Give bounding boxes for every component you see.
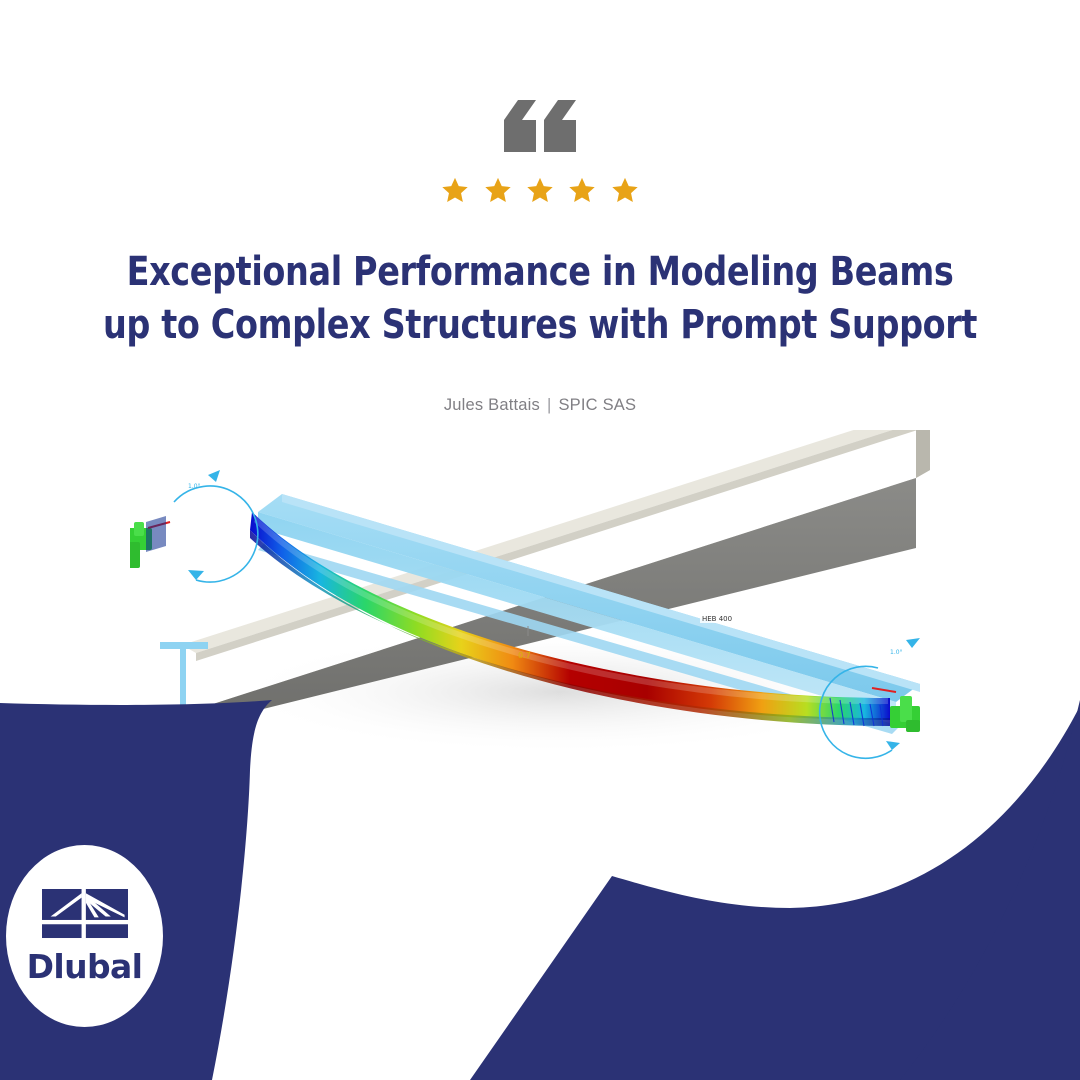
headline-line-1: Exceptional Performance in Modeling Beam… (75, 246, 1005, 299)
left-support-assembly: 1.0° (130, 470, 258, 582)
bridge-icon (42, 889, 128, 942)
star-icon-4 (567, 176, 597, 209)
attribution-company: SPIC SAS (558, 396, 636, 414)
beam-fea-visualization: 1.0° 1.0° (130, 430, 950, 765)
star-icon-3 (525, 176, 555, 209)
member-section-label: HEB 400 (702, 615, 732, 623)
dlubal-logo[interactable]: Dlubal (6, 845, 163, 1027)
star-icon-1 (440, 176, 470, 209)
attribution-separator: | (547, 396, 552, 414)
dlubal-wordmark: Dlubal (27, 950, 143, 983)
star-icon-2 (483, 176, 513, 209)
star-icon-5 (610, 176, 640, 209)
star-rating (0, 176, 1080, 210)
testimonial-card: Exceptional Performance in Modeling Beam… (0, 0, 1080, 1080)
attribution-author: Jules Battais (444, 396, 540, 414)
result-value-label: 0.7 (518, 651, 531, 660)
headline-line-2: up to Complex Structures with Prompt Sup… (75, 299, 1005, 352)
rotation-label-right: 1.0° (890, 649, 903, 656)
quote-open-icon (0, 100, 1080, 157)
page-title: Exceptional Performance in Modeling Beam… (75, 246, 1005, 352)
attribution: Jules Battais|SPIC SAS (0, 396, 1080, 415)
rotation-label-left: 1.0° (188, 483, 201, 490)
